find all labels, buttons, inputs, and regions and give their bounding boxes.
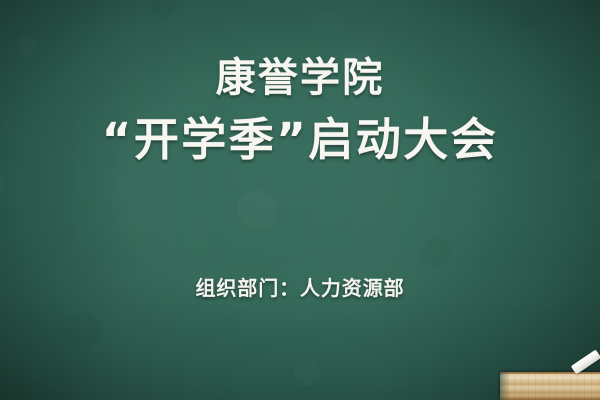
slide-subtitle: 组织部门：人力资源部 [0, 277, 600, 299]
slide-content: 康誉学院 “开学季”启动大会 组织部门：人力资源部 [0, 0, 600, 400]
title-line-1: 康誉学院 [0, 58, 600, 98]
presentation-slide: 康誉学院 “开学季”启动大会 组织部门：人力资源部 [0, 0, 600, 400]
wooden-chalk-ledge-icon [500, 372, 600, 400]
title-line-2: “开学季”启动大会 [0, 117, 600, 162]
slide-title: 康誉学院 “开学季”启动大会 [0, 58, 600, 162]
